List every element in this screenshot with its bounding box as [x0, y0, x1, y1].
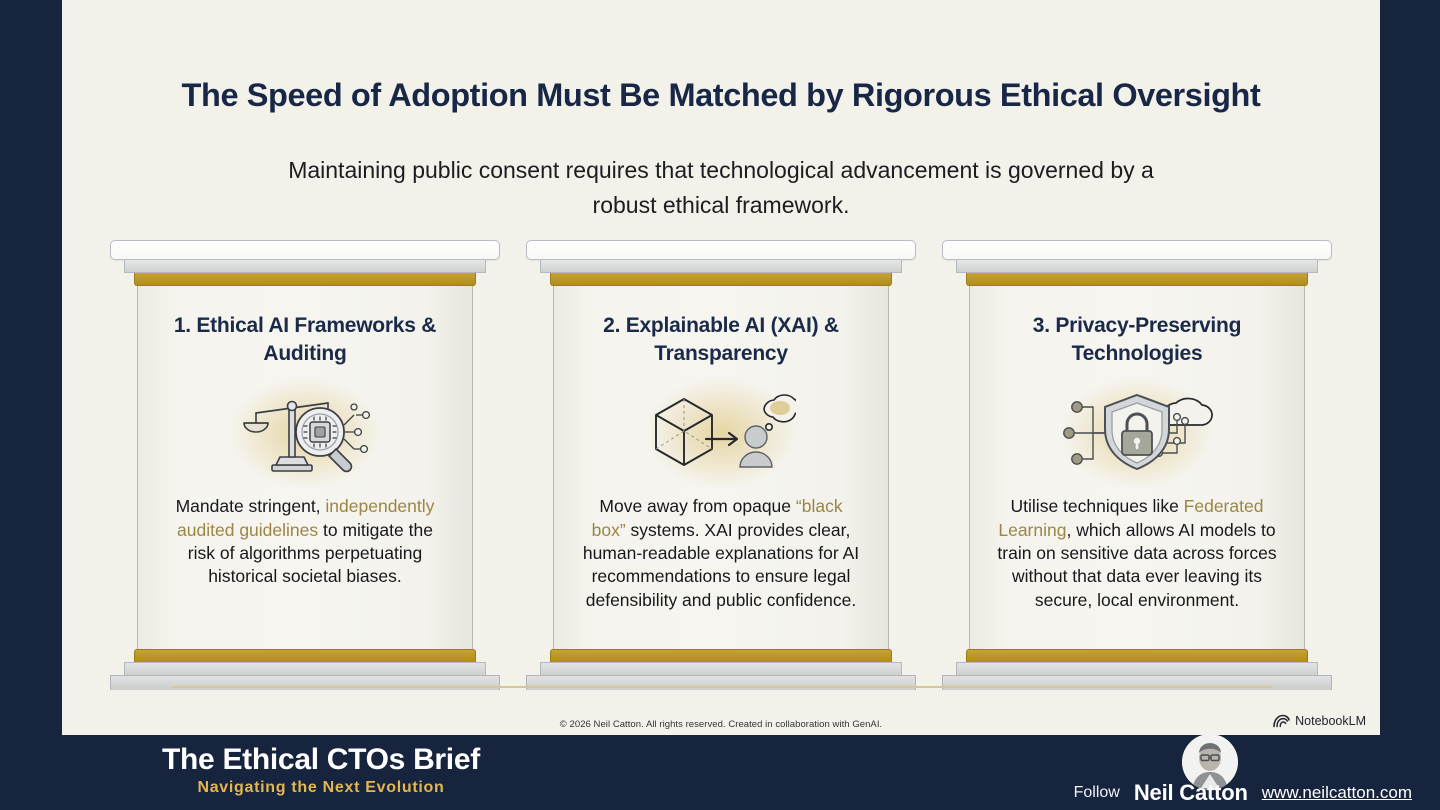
pillar-body: Utilise techniques like Federated Learni…: [996, 495, 1277, 611]
pillar-base-gold-band: [966, 649, 1307, 662]
author-name: Neil Catton: [1134, 780, 1248, 806]
pillar-capital-abacus: [526, 240, 916, 260]
black-box-to-person-icon: [646, 387, 796, 479]
pillar-group: 1. Ethical AI Frameworks & Auditing: [62, 240, 1380, 690]
pillar-capital-echinus: [956, 260, 1319, 273]
copyright-notice: © 2026 Neil Catton. All rights reserved.…: [62, 719, 1380, 730]
pillar-icon-slot: [232, 377, 378, 489]
brand-tagline: Navigating the Next Evolution: [162, 778, 480, 799]
shield-lock-cloud-icon: [1059, 387, 1215, 479]
pillar-heading: 2. Explainable AI (XAI) & Transparency: [580, 312, 861, 367]
pillar-card-2[interactable]: 2. Explainable AI (XAI) & Transparency: [526, 240, 916, 690]
pillar-card-1[interactable]: 1. Ethical AI Frameworks & Auditing: [110, 240, 500, 690]
pillar-body-part: Move away from opaque: [599, 496, 796, 516]
notebooklm-mark-icon: [1273, 714, 1290, 728]
notebooklm-label: NotebookLM: [1295, 714, 1366, 728]
pillar-capital-gold-band: [966, 273, 1307, 286]
page-subtitle: Maintaining public consent requires that…: [271, 153, 1171, 223]
pillar-shaft: 2. Explainable AI (XAI) & Transparency: [553, 286, 888, 649]
pillar-heading: 1. Ethical AI Frameworks & Auditing: [164, 312, 445, 367]
pillar-base-gold-band: [134, 649, 475, 662]
pillar-shaft: 1. Ethical AI Frameworks & Auditing: [137, 286, 472, 649]
pillar-base-gold-band: [550, 649, 891, 662]
pillar-capital-abacus: [942, 240, 1332, 260]
pillar-base-step-1: [956, 662, 1319, 675]
pillar-capital-echinus: [124, 260, 487, 273]
pillar-base-step-1: [124, 662, 487, 675]
ground-line: [172, 686, 1272, 688]
follow-label: Follow: [1074, 784, 1120, 802]
pillar-capital-echinus: [540, 260, 903, 273]
author-website-link[interactable]: www.neilcatton.com: [1262, 783, 1412, 803]
slide-root: The Speed of Adoption Must Be Matched by…: [0, 0, 1440, 810]
slide-canvas: The Speed of Adoption Must Be Matched by…: [62, 0, 1380, 735]
pillar-body-part: Mandate stringent,: [176, 496, 326, 516]
pillar-icon-slot: [1059, 377, 1215, 489]
pillar-heading: 3. Privacy-Preserving Technologies: [996, 312, 1277, 367]
page-title: The Speed of Adoption Must Be Matched by…: [62, 76, 1380, 115]
pillar-shaft: 3. Privacy-Preserving Technologies: [969, 286, 1304, 649]
pillar-capital-gold-band: [550, 273, 891, 286]
pillar-capital-abacus: [110, 240, 500, 260]
follow-group: Follow Neil Catton www.neilcatton.com: [1074, 780, 1412, 806]
pillar-body-part: Utilise techniques like: [1011, 496, 1184, 516]
pillar-card-3[interactable]: 3. Privacy-Preserving Technologies: [942, 240, 1332, 690]
brand-title: The Ethical CTOs Brief: [162, 743, 480, 777]
pillar-icon-slot: [646, 377, 796, 489]
pillar-base-step-1: [540, 662, 903, 675]
brand-block: The Ethical CTOs Brief Navigating the Ne…: [162, 743, 480, 798]
scales-chip-magnifier-icon: [232, 387, 378, 479]
notebooklm-logo: NotebookLM: [1273, 714, 1366, 728]
bottom-bar: The Ethical CTOs Brief Navigating the Ne…: [0, 735, 1440, 810]
pillar-body: Mandate stringent, independently audited…: [164, 495, 445, 588]
pillar-body: Move away from opaque “black box” system…: [580, 495, 861, 611]
pillar-capital-gold-band: [134, 273, 475, 286]
